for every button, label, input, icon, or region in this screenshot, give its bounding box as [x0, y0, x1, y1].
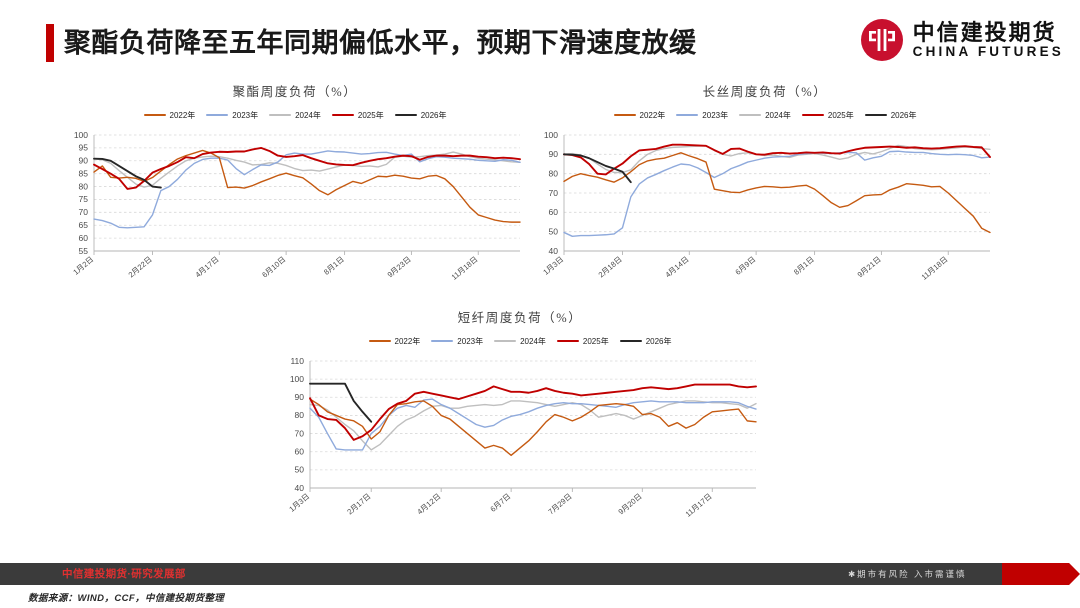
y-axis-tick-label: 110: [290, 356, 304, 366]
x-axis-tick-label: 2月17日: [345, 492, 372, 517]
legend-label: 2026年: [421, 110, 447, 121]
x-axis-tick-label: 6月9日: [734, 255, 758, 277]
legend-label: 2022年: [170, 110, 196, 121]
legend-item-2024年: 2024年: [739, 110, 791, 121]
chart-title: 长丝周度负荷（%）: [530, 84, 1000, 100]
y-axis-tick-label: 90: [79, 156, 89, 166]
logo-english-name: CHINA FUTURES: [913, 44, 1064, 60]
legend-label: 2024年: [295, 110, 321, 121]
y-axis-tick-label: 100: [290, 374, 304, 384]
legend-label: 2024年: [520, 336, 546, 347]
legend-swatch-icon: [144, 114, 166, 117]
legend-label: 2025年: [583, 336, 609, 347]
legend-swatch-icon: [494, 340, 516, 343]
page-header: 聚酯负荷降至五年同期偏低水平，预期下滑速度放缓 中信建投期货 CHINA FUT…: [0, 0, 1080, 80]
y-axis-tick-label: 100: [544, 130, 558, 140]
y-axis-tick-label: 40: [549, 246, 559, 256]
y-axis-tick-label: 80: [295, 410, 305, 420]
chart-legend: 2022年2023年2024年2025年2026年: [530, 109, 1000, 121]
x-axis-tick-label: 11月17日: [684, 492, 714, 519]
legend-swatch-icon: [431, 340, 453, 343]
y-axis-tick-label: 40: [295, 483, 305, 493]
legend-item-2026年: 2026年: [620, 336, 672, 347]
legend-item-2023年: 2023年: [676, 110, 728, 121]
legend-item-2024年: 2024年: [494, 336, 546, 347]
footer-risk-note: ✱期市有风险 入市需谨慎: [848, 563, 967, 585]
x-axis-tick-label: 9月23日: [386, 255, 413, 280]
chart-plot-area: 4050607080901001101月3日2月17日4月12日6月7日7月29…: [270, 355, 770, 540]
plot-svg: 4050607080901001101月3日2月17日4月12日6月7日7月29…: [270, 355, 770, 540]
x-axis-tick-label: 2月22日: [127, 255, 154, 280]
y-axis-tick-label: 70: [549, 188, 559, 198]
x-axis-tick-label: 6月10日: [260, 255, 287, 280]
legend-item-2024年: 2024年: [269, 110, 321, 121]
footer-arrow-shape: [1002, 563, 1080, 585]
legend-swatch-icon: [614, 114, 636, 117]
legend-label: 2026年: [891, 110, 917, 121]
legend-item-2022年: 2022年: [144, 110, 196, 121]
x-axis-tick-label: 11月18日: [450, 255, 480, 282]
legend-swatch-icon: [269, 114, 291, 117]
legend-swatch-icon: [802, 114, 824, 117]
legend-item-2026年: 2026年: [865, 110, 917, 121]
legend-swatch-icon: [865, 114, 887, 117]
y-axis-tick-label: 60: [295, 446, 305, 456]
legend-label: 2026年: [646, 336, 672, 347]
legend-swatch-icon: [676, 114, 698, 117]
series-line-2023年: [310, 399, 756, 450]
legend-label: 2025年: [358, 110, 384, 121]
x-axis-tick-label: 9月20日: [616, 492, 643, 517]
legend-swatch-icon: [557, 340, 579, 343]
series-line-2025年: [564, 145, 990, 175]
page-title: 聚酯负荷降至五年同期偏低水平，预期下滑速度放缓: [64, 24, 697, 62]
x-axis-tick-label: 1月3日: [541, 255, 565, 277]
y-axis-tick-label: 75: [79, 194, 89, 204]
legend-item-2025年: 2025年: [332, 110, 384, 121]
y-axis-tick-label: 70: [295, 428, 305, 438]
legend-item-2025年: 2025年: [802, 110, 854, 121]
legend-item-2023年: 2023年: [431, 336, 483, 347]
legend-swatch-icon: [332, 114, 354, 117]
chart-title: 短纤周度负荷（%）: [270, 310, 770, 326]
citic-logo-icon: [860, 18, 904, 62]
legend-label: 2022年: [640, 110, 666, 121]
legend-swatch-icon: [369, 340, 391, 343]
x-axis-tick-label: 4月17日: [193, 255, 220, 280]
y-axis-tick-label: 90: [549, 149, 559, 159]
chart-legend: 2022年2023年2024年2025年2026年: [60, 109, 530, 121]
chart-plot-area: 4050607080901001月3日2月18日4月14日6月9日8月1日9月2…: [530, 129, 1000, 299]
y-axis-tick-label: 55: [79, 246, 89, 256]
company-logo: 中信建投期货 CHINA FUTURES: [860, 18, 1064, 62]
legend-swatch-icon: [395, 114, 417, 117]
chart-plot-area: 5560657075808590951001月2日2月22日4月17日6月10日…: [60, 129, 530, 299]
chart-polyester-weekly-load: 聚酯周度负荷（%） 2022年2023年2024年2025年2026年 5560…: [60, 84, 530, 299]
x-axis-tick-label: 7月29日: [547, 492, 574, 517]
x-axis-tick-label: 8月1日: [792, 255, 816, 277]
chart-staple-fiber-weekly-load: 短纤周度负荷（%） 2022年2023年2024年2025年2026年 4050…: [270, 310, 770, 540]
chart-legend: 2022年2023年2024年2025年2026年: [270, 335, 770, 347]
legend-label: 2023年: [232, 110, 258, 121]
legend-label: 2023年: [457, 336, 483, 347]
x-axis-tick-label: 6月7日: [489, 492, 513, 514]
plot-svg: 5560657075808590951001月2日2月22日4月17日6月10日…: [60, 129, 530, 299]
y-axis-tick-label: 80: [79, 181, 89, 191]
title-accent-bar: [46, 24, 54, 62]
x-axis-tick-label: 1月3日: [287, 492, 311, 514]
x-axis-tick-label: 2月18日: [597, 255, 624, 280]
x-axis-tick-label: 9月21日: [856, 255, 883, 280]
legend-swatch-icon: [620, 340, 642, 343]
y-axis-tick-label: 65: [79, 220, 89, 230]
x-axis-tick-label: 1月2日: [71, 255, 95, 277]
y-axis-tick-label: 80: [549, 168, 559, 178]
series-line-2023年: [564, 151, 990, 236]
legend-item-2022年: 2022年: [614, 110, 666, 121]
y-axis-tick-label: 60: [549, 207, 559, 217]
y-axis-tick-label: 50: [549, 226, 559, 236]
legend-swatch-icon: [206, 114, 228, 117]
y-axis-tick-label: 100: [74, 130, 88, 140]
legend-item-2022年: 2022年: [369, 336, 421, 347]
x-axis-tick-label: 4月12日: [415, 492, 442, 517]
legend-label: 2025年: [828, 110, 854, 121]
series-line-2024年: [310, 401, 756, 450]
legend-item-2026年: 2026年: [395, 110, 447, 121]
y-axis-tick-label: 85: [79, 168, 89, 178]
footer-data-source: 数据来源：WIND，CCF，中信建投期货整理: [28, 592, 224, 606]
legend-label: 2023年: [702, 110, 728, 121]
series-line-2025年: [310, 385, 756, 440]
y-axis-tick-label: 50: [295, 465, 305, 475]
legend-swatch-icon: [739, 114, 761, 117]
chart-filament-weekly-load: 长丝周度负荷（%） 2022年2023年2024年2025年2026年 4050…: [530, 84, 1000, 299]
footer-department: 中信建投期货·研究发展部: [62, 563, 186, 585]
legend-item-2025年: 2025年: [557, 336, 609, 347]
legend-label: 2022年: [395, 336, 421, 347]
plot-svg: 4050607080901001月3日2月18日4月14日6月9日8月1日9月2…: [530, 129, 1000, 299]
y-axis-tick-label: 90: [295, 392, 305, 402]
y-axis-tick-label: 95: [79, 143, 89, 153]
x-axis-tick-label: 11月18日: [920, 255, 950, 282]
legend-label: 2024年: [765, 110, 791, 121]
logo-chinese-name: 中信建投期货: [913, 21, 1064, 44]
x-axis-tick-label: 4月14日: [663, 255, 690, 280]
y-axis-tick-label: 70: [79, 207, 89, 217]
y-axis-tick-label: 60: [79, 233, 89, 243]
x-axis-tick-label: 8月1日: [322, 255, 346, 277]
legend-item-2023年: 2023年: [206, 110, 258, 121]
chart-title: 聚酯周度负荷（%）: [60, 84, 530, 100]
